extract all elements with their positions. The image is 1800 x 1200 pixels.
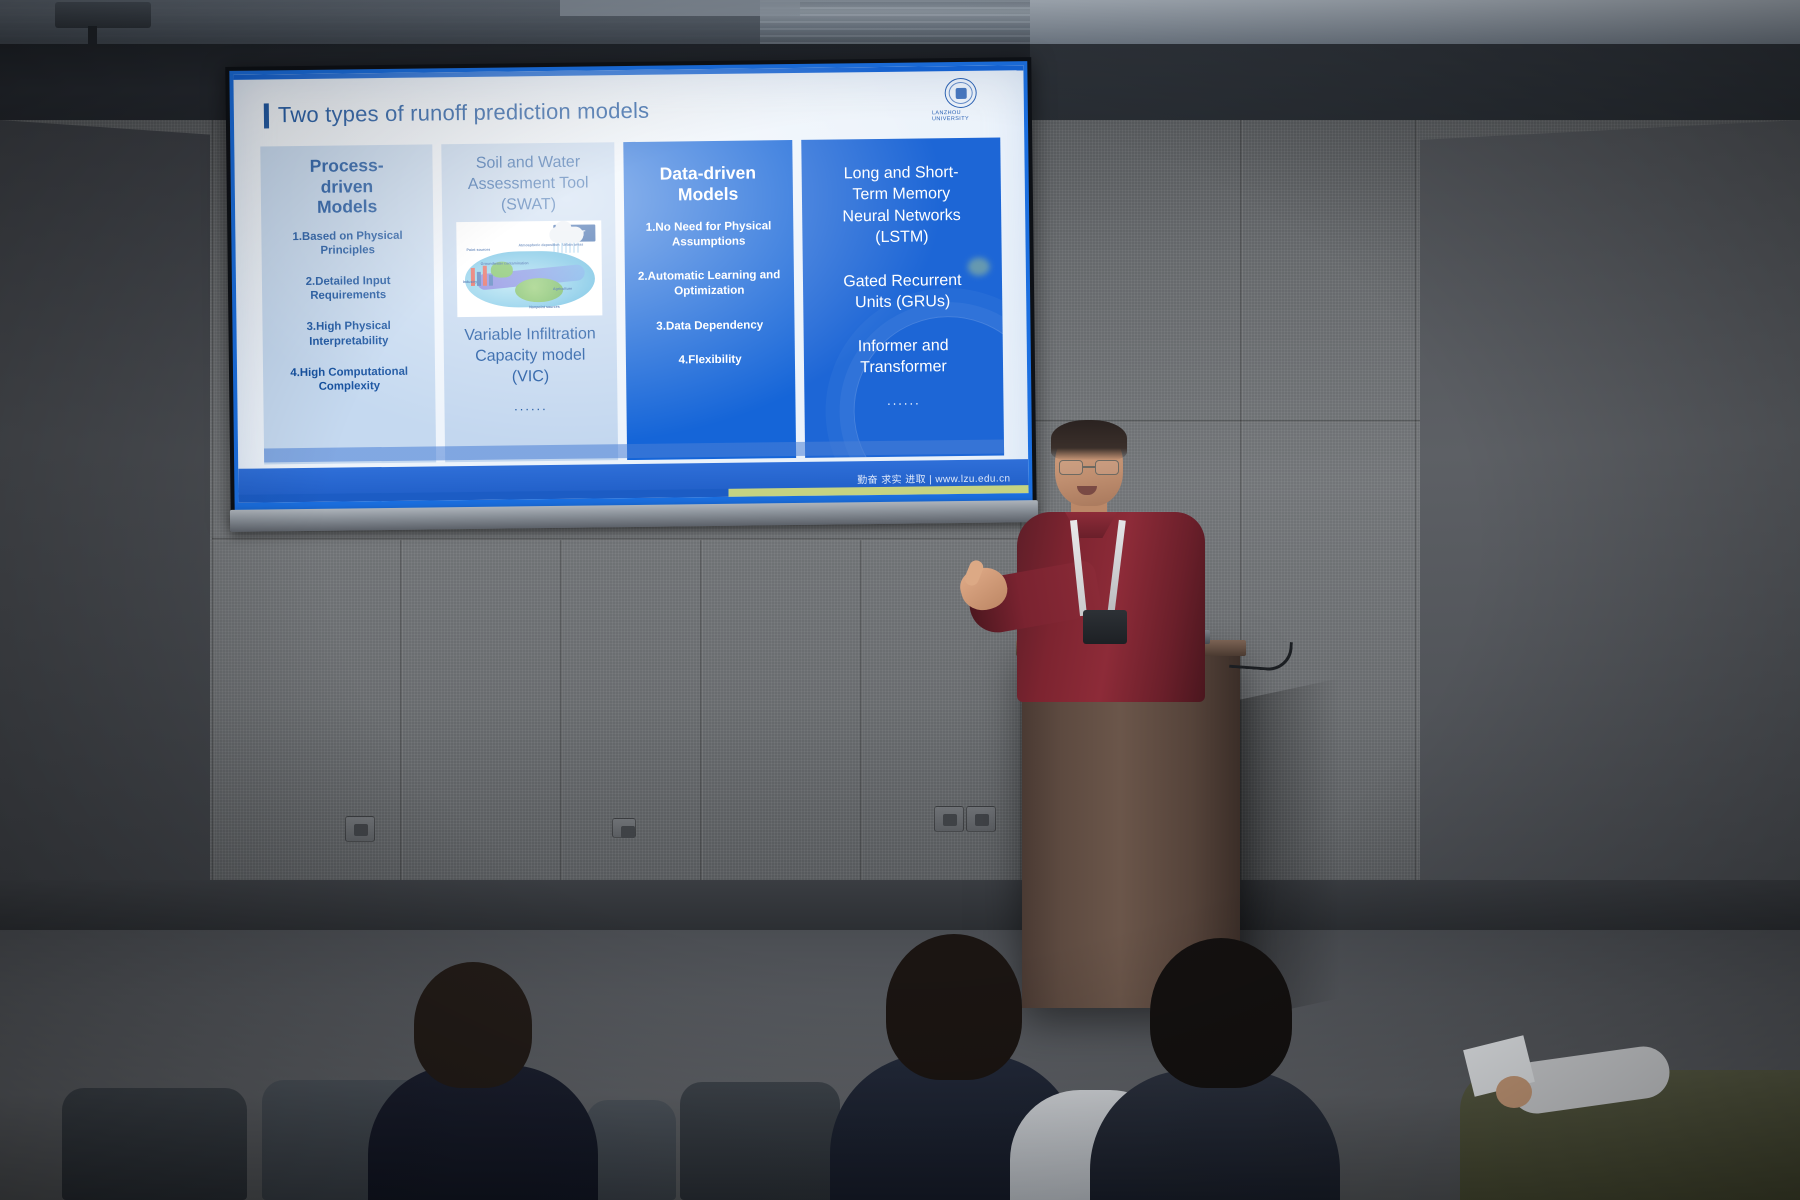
heading-line: Assessment Tool: [449, 173, 608, 196]
list-item: 3.High Physical Interpretability: [269, 319, 428, 349]
audience-member-seated-right: [1400, 1000, 1800, 1200]
heading-line: Data-driven: [630, 162, 786, 185]
diagram-label: Point sources: [466, 248, 490, 252]
university-logo: LANZHOU UNIVERSITY: [932, 78, 991, 123]
list-item: 1.Based on Physical Principles: [268, 228, 427, 258]
diagram-label: Groundwater contamination: [481, 262, 529, 267]
heading-line: Soil and Water: [449, 152, 608, 175]
heading-line: Term Memory: [809, 183, 994, 207]
wall-seam: [1415, 120, 1418, 910]
presentation-slide: Two types of runoff prediction models LA…: [233, 65, 1028, 503]
list-item: 2.Automatic Learning and Optimization: [631, 269, 787, 300]
audience-head: [1150, 938, 1292, 1088]
diagram-label: Nonpoint sources: [529, 305, 560, 309]
column-swat-vic: Soil and Water Assessment Tool (SWAT) SW…: [442, 142, 618, 462]
block-lstm: Long and Short- Term Memory Neural Netwo…: [808, 162, 994, 250]
list-item: 2.Detailed Input Requirements: [269, 274, 428, 304]
wall-seam-horizontal: [212, 538, 1020, 541]
column-heading: Data-driven Models: [630, 162, 786, 205]
page-title: Two types of runoff prediction models: [278, 98, 650, 129]
wall-seam: [400, 540, 403, 910]
lecture-hall-scene: Two types of runoff prediction models LA…: [0, 0, 1800, 1200]
heading-line: Models: [268, 196, 427, 219]
projector-mount: [55, 2, 151, 28]
audience-hand: [1496, 1076, 1532, 1108]
column-bullet-list: 1.Based on Physical Principles 2.Detaile…: [268, 228, 428, 394]
column-data-driven: Data-driven Models 1.No Need for Physica…: [623, 140, 796, 460]
glasses-icon: [1057, 460, 1121, 475]
column-heading: Process- driven Models: [267, 154, 426, 218]
audience-shoulders: [1090, 1070, 1340, 1200]
heading-line: (SWAT): [449, 194, 608, 217]
subheading-line: Capacity model: [451, 345, 610, 368]
audience-member: [390, 950, 690, 1200]
audience-head: [414, 962, 532, 1088]
university-seal-icon: [945, 78, 977, 108]
heading-line: (LSTM): [809, 226, 994, 250]
ceiling-light-panel: [560, 0, 800, 16]
chair: [62, 1088, 247, 1200]
heading-line: Long and Short-: [808, 162, 993, 186]
list-item: 4.Flexibility: [632, 352, 787, 368]
diagram-label: Urban areas: [562, 243, 583, 247]
column-process-driven: Process- driven Models 1.Based on Physic…: [260, 144, 436, 464]
heading-line: Gated Recurrent: [810, 269, 995, 293]
wall-seam: [860, 540, 863, 910]
wall-right-return: [1420, 120, 1800, 930]
list-item: 1.No Need for Physical Assumptions: [631, 219, 787, 250]
title-accent-bar: [264, 103, 269, 128]
audience-head: [886, 934, 1022, 1080]
wall-seam: [212, 120, 215, 910]
presenter-hair: [1051, 420, 1127, 460]
diagram-label: Atmospheric deposition: [518, 243, 559, 248]
diagram-label: Industry: [463, 280, 477, 284]
wall-left-return: [0, 120, 210, 935]
heading-line: Models: [630, 183, 786, 206]
name-badge: [1083, 610, 1127, 644]
ellipsis-dots: ......: [452, 397, 610, 414]
ceiling-beam-right: [1030, 0, 1800, 46]
heading-line: Process-: [267, 154, 426, 177]
diagram-label: Agriculture: [553, 287, 572, 291]
wall-outlet: [345, 816, 375, 842]
list-item: 4.High Computational Complexity: [270, 364, 429, 394]
audience-member: [1090, 940, 1410, 1200]
column-subheading: Variable Infiltration Capacity model (VI…: [451, 325, 610, 389]
chair: [680, 1082, 840, 1200]
subheading-line: Variable Infiltration: [451, 325, 610, 348]
heading-line: Units (GRUs): [810, 291, 995, 315]
wall-outlet: [612, 818, 636, 838]
column-heading: Soil and Water Assessment Tool (SWAT): [449, 152, 608, 216]
wall-seam: [700, 540, 703, 910]
column-bullet-list: 1.No Need for Physical Assumptions 2.Aut…: [631, 219, 788, 368]
list-item: 3.Data Dependency: [632, 318, 787, 334]
slide-title-group: Two types of runoff prediction models: [264, 98, 650, 129]
subheading-line: (VIC): [451, 366, 610, 389]
heading-line: driven: [268, 175, 427, 198]
presenter: [955, 420, 1255, 700]
wall-seam: [560, 540, 563, 910]
wall-baseboard: [0, 880, 1800, 936]
cloud-icon: [549, 227, 583, 243]
swat-diagram-image: SWAT Point sources Atmospheric depositio…: [456, 221, 602, 318]
university-logo-latin: LANZHOU UNIVERSITY: [932, 110, 990, 123]
wall-outlet: [966, 806, 996, 832]
wall-outlet: [934, 806, 964, 832]
seal-core: [955, 87, 966, 98]
slide-columns: Process- driven Models 1.Based on Physic…: [260, 137, 1004, 464]
block-gru: Gated Recurrent Units (GRUs): [810, 269, 996, 314]
heading-line: Neural Networks: [809, 204, 994, 228]
column-dl-architectures: Long and Short- Term Memory Neural Netwo…: [801, 137, 1004, 457]
